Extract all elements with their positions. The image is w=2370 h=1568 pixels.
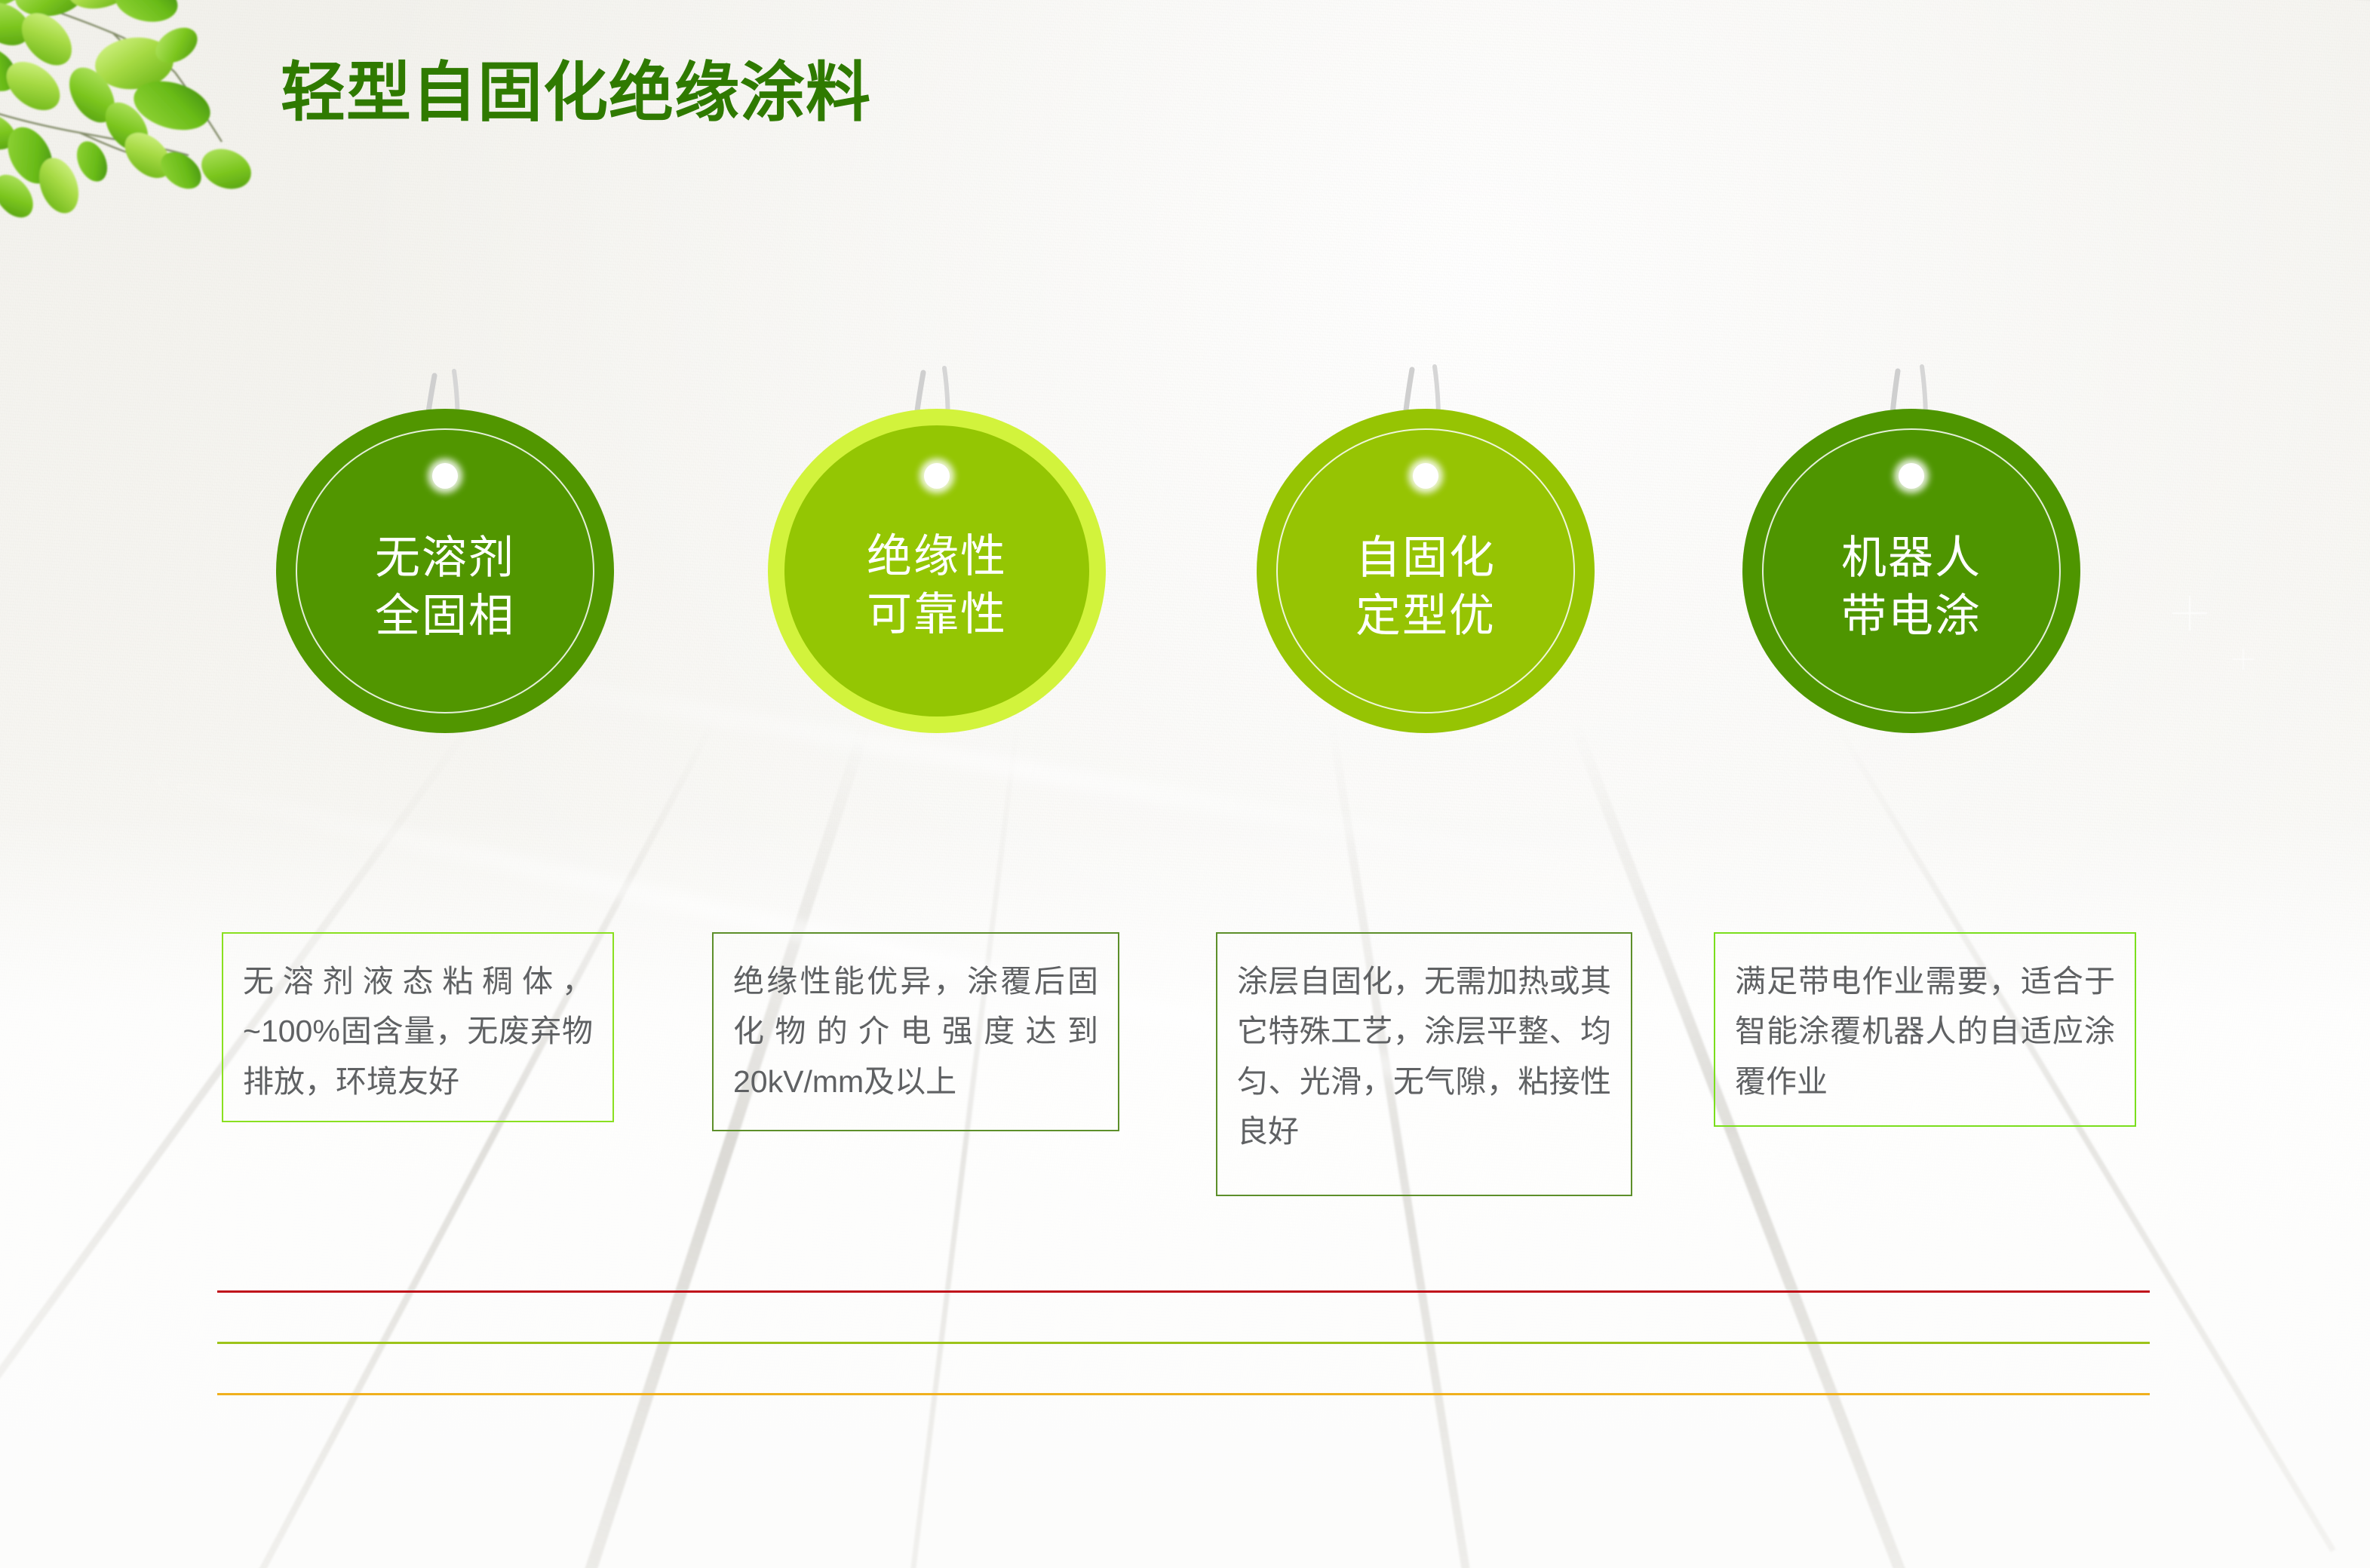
- tag-line-2: 全固相: [375, 591, 515, 641]
- punch-hole-icon: [924, 463, 950, 489]
- feature-description-3: 涂层自固化，无需加热或其它特殊工艺，涂层平整、均匀、光滑，无气隙，粘接性良好: [1216, 932, 1632, 1196]
- divider-rule-amber: [217, 1393, 2150, 1395]
- feature-description-1: 无溶剂液态粘稠体，~100%固含量，无废弃物排放，环境友好: [222, 932, 614, 1122]
- tag-line-1: 机器人: [1841, 532, 1982, 583]
- feature-tag-2[interactable]: 绝缘性可靠性: [768, 362, 1106, 733]
- background-floor: [0, 814, 2370, 1568]
- feature-tag-4[interactable]: 机器人带电涂: [1742, 362, 2080, 733]
- tag-line-1: 自固化: [1355, 532, 1496, 583]
- punch-hole-icon: [1413, 463, 1438, 489]
- tag-line-2: 可靠性: [867, 589, 1007, 640]
- floor-perspective-line: [1834, 722, 2336, 1552]
- floor-perspective-line: [562, 722, 872, 1568]
- feature-tag-1[interactable]: 无溶剂全固相: [276, 362, 614, 733]
- punch-hole-icon: [432, 463, 458, 489]
- divider-rule-red: [217, 1290, 2150, 1293]
- page-title: 轻型自固化绝缘涂料: [281, 57, 871, 129]
- sparkle-icon: [2233, 649, 2254, 670]
- feature-tag-label-2: 绝缘性可靠性: [784, 528, 1089, 644]
- tag-line-2: 定型优: [1355, 591, 1496, 641]
- floor-perspective-line: [897, 723, 1020, 1568]
- feature-disc-4[interactable]: 机器人带电涂: [1742, 409, 2080, 733]
- floor-perspective-line: [256, 722, 716, 1568]
- feature-tag-label-1: 无溶剂全固相: [276, 529, 614, 646]
- feature-description-4: 满足带电作业需要，适合于智能涂覆机器人的自适应涂覆作业: [1714, 932, 2136, 1127]
- feature-tag-3[interactable]: 自固化定型优: [1257, 362, 1595, 733]
- tag-line-1: 无溶剂: [375, 532, 515, 583]
- tag-line-2: 带电涂: [1841, 591, 1982, 641]
- divider-rule-green: [217, 1342, 2150, 1344]
- feature-disc-1[interactable]: 无溶剂全固相: [276, 409, 614, 733]
- description-text: 涂层自固化，无需加热或其它特殊工艺，涂层平整、均匀、光滑，无气隙，粘接性良好: [1237, 956, 1611, 1157]
- punch-hole-icon: [1899, 463, 1924, 489]
- feature-tag-label-4: 机器人带电涂: [1742, 529, 2080, 646]
- sparkle-icon: [2172, 596, 2207, 631]
- leaves-decoration-icon: [0, 0, 288, 237]
- feature-description-2: 绝缘性能优异，涂覆后固化物的介电强度达到20kV/mm及以上: [712, 932, 1119, 1131]
- description-text: 无溶剂液态粘稠体，~100%固含量，无废弃物排放，环境友好: [243, 956, 593, 1106]
- description-text: 绝缘性能优异，涂覆后固化物的介电强度达到20kV/mm及以上: [733, 956, 1098, 1106]
- feature-disc-2[interactable]: 绝缘性可靠性: [768, 409, 1106, 733]
- tag-line-1: 绝缘性: [867, 531, 1007, 581]
- slide-canvas: 轻型自固化绝缘涂料 无溶剂全固相 绝缘性可靠性: [0, 0, 2370, 1568]
- description-text: 满足带电作业需要，适合于智能涂覆机器人的自适应涂覆作业: [1735, 956, 2115, 1106]
- feature-disc-3[interactable]: 自固化定型优: [1257, 409, 1595, 733]
- feature-tag-label-3: 自固化定型优: [1257, 529, 1595, 646]
